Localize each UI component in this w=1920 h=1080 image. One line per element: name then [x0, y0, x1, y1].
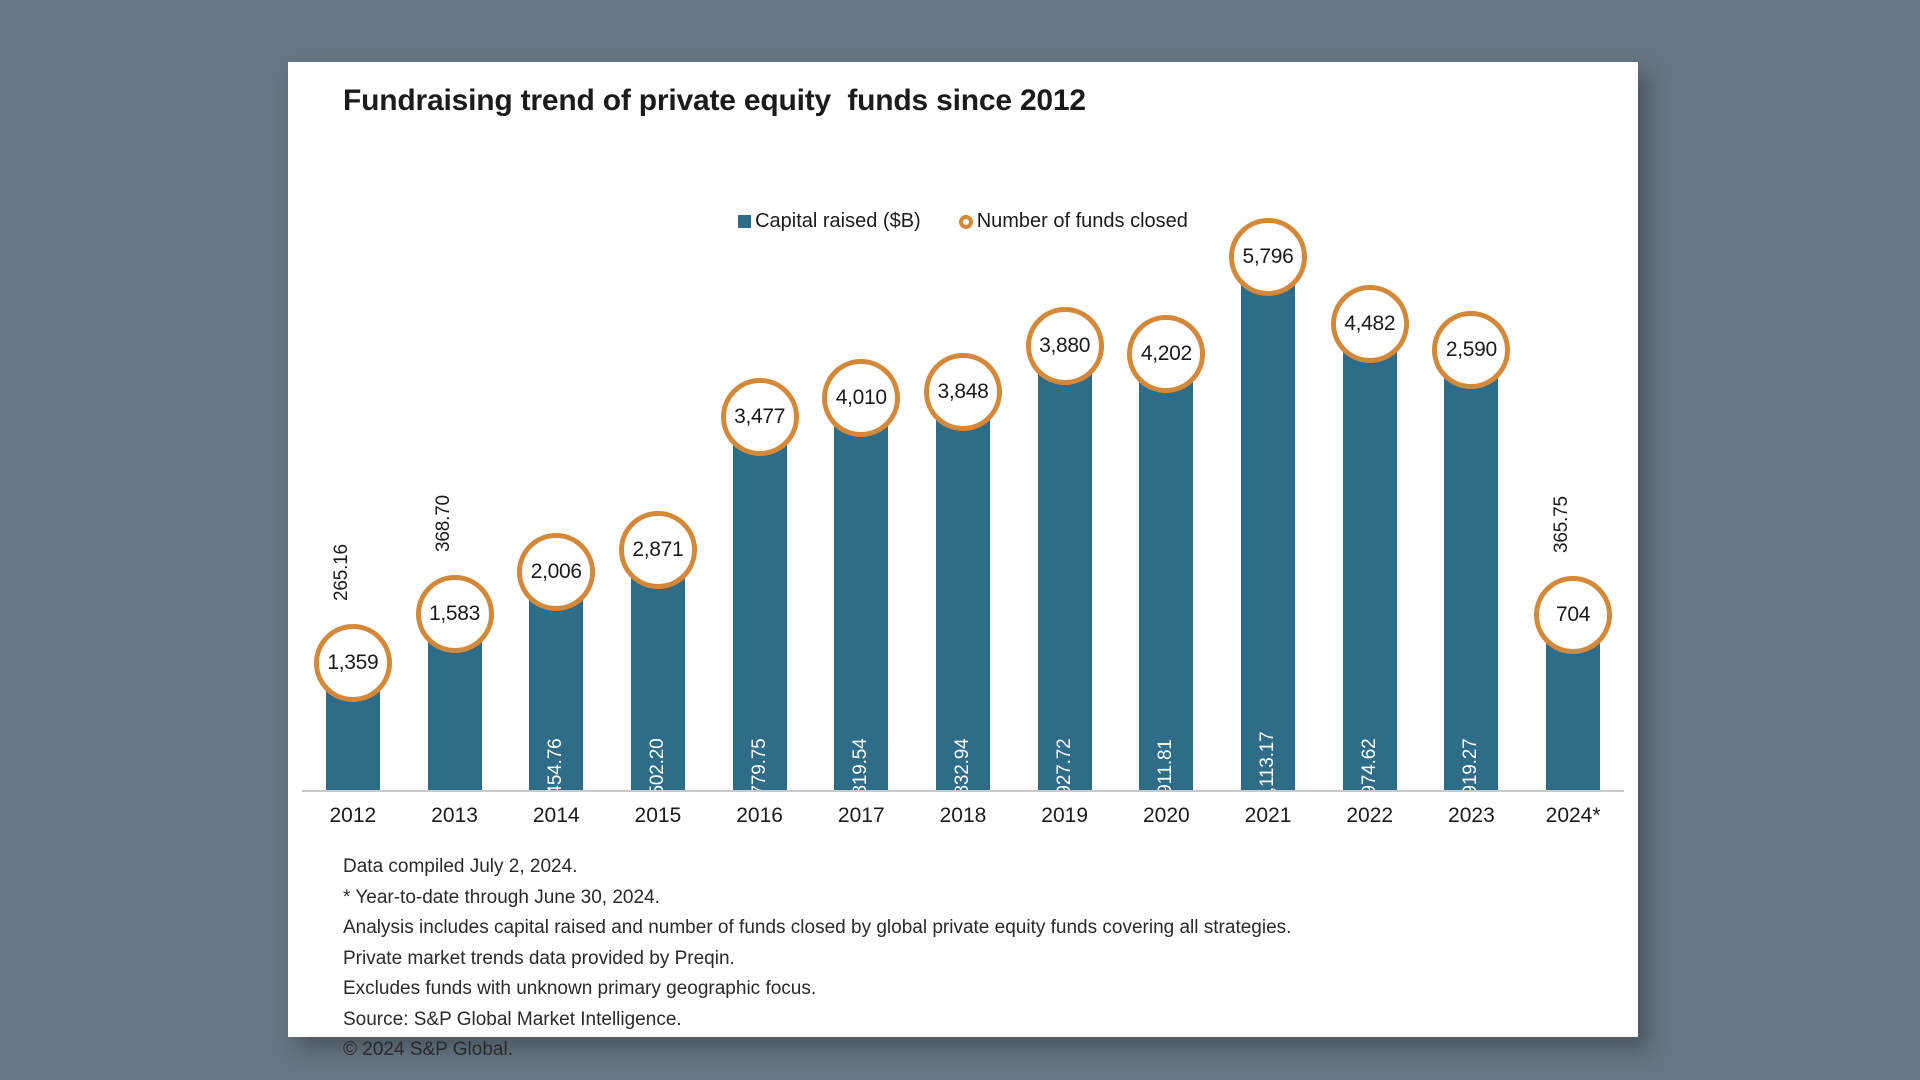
x-axis-tick-label: 2019 — [1014, 804, 1116, 828]
funds-closed-marker[interactable]: 3,880 — [1026, 307, 1104, 385]
bar-value-label: 265.16 — [331, 544, 353, 601]
funds-closed-marker[interactable]: 704 — [1534, 576, 1612, 654]
bar-value-label: 974.62 — [1359, 739, 1381, 796]
bar-column: 502.202,871 — [607, 192, 709, 790]
bar-series: 265.161,359368.701,583454.762,006502.202… — [302, 192, 1624, 790]
funds-closed-marker[interactable]: 4,482 — [1331, 285, 1409, 363]
bar[interactable]: 779.75 — [733, 417, 787, 790]
funds-closed-marker[interactable]: 2,871 — [619, 511, 697, 589]
x-axis-tick-label: 2021 — [1217, 804, 1319, 828]
funds-closed-marker[interactable]: 2,006 — [517, 533, 595, 611]
bar-value-label: 454.76 — [545, 739, 567, 796]
bar-value-label: 919.27 — [1460, 739, 1482, 796]
bar-value-label: 779.75 — [749, 739, 771, 796]
funds-closed-marker[interactable]: 4,202 — [1127, 315, 1205, 393]
x-axis-tick-label: 2022 — [1319, 804, 1421, 828]
bar-column: 368.701,583 — [404, 192, 506, 790]
footnote-line: * Year-to-date through June 30, 2024. — [343, 883, 1583, 914]
x-axis-tick-label: 2015 — [607, 804, 709, 828]
funds-closed-marker[interactable]: 2,590 — [1432, 311, 1510, 389]
plot-area: 265.161,359368.701,583454.762,006502.202… — [302, 192, 1624, 792]
bar-value-label: 832.94 — [952, 739, 974, 796]
x-axis-tick-label: 2023 — [1421, 804, 1523, 828]
bar[interactable]: 819.54 — [834, 398, 888, 790]
bar-column: 779.753,477 — [709, 192, 811, 790]
page-title: Fundraising trend of private equity fund… — [343, 84, 1086, 118]
bar[interactable]: 911.81 — [1139, 354, 1193, 790]
bar-column: 832.943,848 — [912, 192, 1014, 790]
bar-value-label: 365.75 — [1551, 496, 1573, 553]
x-axis-tick-label: 2012 — [302, 804, 404, 828]
funds-closed-marker[interactable]: 1,359 — [314, 624, 392, 702]
x-axis-labels: 2012201320142015201620172018201920202021… — [302, 804, 1624, 828]
footnote-line: © 2024 S&P Global. — [343, 1035, 1583, 1066]
bar[interactable]: 832.94 — [936, 392, 990, 790]
chart-card: Fundraising trend of private equity fund… — [288, 62, 1638, 1037]
x-axis-tick-label: 2013 — [404, 804, 506, 828]
bar-column: 1,113.175,796 — [1217, 192, 1319, 790]
x-axis-tick-label: 2017 — [810, 804, 912, 828]
funds-closed-marker[interactable]: 3,477 — [721, 378, 799, 456]
bar-value-label: 819.54 — [850, 739, 872, 796]
x-axis-tick-label: 2024* — [1522, 804, 1624, 828]
bar-value-label: 911.81 — [1155, 739, 1177, 795]
x-axis-tick-label: 2018 — [912, 804, 1014, 828]
bar-column: 927.723,880 — [1014, 192, 1116, 790]
footnote-line: Source: S&P Global Market Intelligence. — [343, 1005, 1583, 1036]
x-axis-tick-label: 2014 — [505, 804, 607, 828]
bar-column: 819.544,010 — [810, 192, 912, 790]
bar-column: 454.762,006 — [505, 192, 607, 790]
screen: Fundraising trend of private equity fund… — [0, 0, 1920, 1080]
bar-column: 265.161,359 — [302, 192, 404, 790]
funds-closed-marker[interactable]: 5,796 — [1229, 218, 1307, 296]
bar-column: 365.75704 — [1522, 192, 1624, 790]
footnote-line: Analysis includes capital raised and num… — [343, 913, 1583, 944]
funds-closed-marker[interactable]: 3,848 — [924, 353, 1002, 431]
bar-value-label: 927.72 — [1054, 739, 1076, 796]
x-axis-tick-label: 2016 — [709, 804, 811, 828]
bar[interactable]: 974.62 — [1343, 324, 1397, 790]
bar-value-label: 502.20 — [647, 739, 669, 796]
footnote-block: Data compiled July 2, 2024.* Year-to-dat… — [343, 852, 1583, 1066]
bar-column: 911.814,202 — [1116, 192, 1218, 790]
footnote-line: Data compiled July 2, 2024. — [343, 852, 1583, 883]
x-axis-line — [302, 790, 1624, 792]
bar-column: 974.624,482 — [1319, 192, 1421, 790]
x-axis-tick-label: 2020 — [1116, 804, 1218, 828]
funds-closed-marker[interactable]: 4,010 — [822, 359, 900, 437]
bar[interactable]: 927.72 — [1038, 346, 1092, 790]
footnote-line: Private market trends data provided by P… — [343, 944, 1583, 975]
bar-column: 919.272,590 — [1421, 192, 1523, 790]
footnote-line: Excludes funds with unknown primary geog… — [343, 974, 1583, 1005]
bar-value-label: 368.70 — [433, 495, 455, 552]
bar[interactable]: 919.27 — [1444, 350, 1498, 790]
bar[interactable]: 1,113.17 — [1241, 257, 1295, 790]
funds-closed-marker[interactable]: 1,583 — [416, 575, 494, 653]
